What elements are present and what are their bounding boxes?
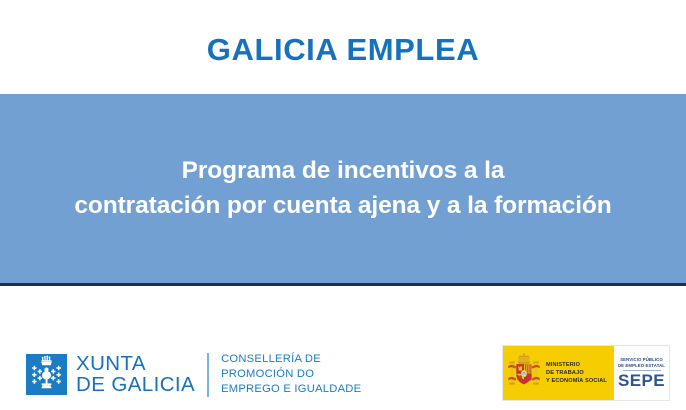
ministerio-wordmark: MINISTERIO DE TRABAJO Y ECONOMÍA SOCIAL [546, 361, 607, 385]
sepe-logo: SERVICIO PÚBLICO DE EMPLEO ESTATAL SEPE [614, 346, 669, 400]
sepe-subtitle-line-1: SERVICIO PÚBLICO [618, 357, 665, 363]
sepe-subtitle-line-2: DE EMPLEO ESTATAL [618, 363, 665, 369]
conselleria-line-2: PROMOCIÓN DO [221, 367, 361, 382]
xunta-wordmark: XUNTA DE GALICIA [76, 354, 195, 396]
ministerio-line-1: MINISTERIO [546, 361, 607, 369]
xunta-emblem-icon [26, 354, 67, 395]
spain-coat-of-arms-icon [507, 353, 541, 393]
government-logos: MINISTERIO DE TRABAJO Y ECONOMÍA SOCIAL … [502, 345, 670, 401]
ministerio-de-trabajo-logo: MINISTERIO DE TRABAJO Y ECONOMÍA SOCIAL [503, 346, 614, 400]
conselleria-line-3: EMPREGO E IGUALDADE [221, 382, 361, 397]
ministerio-line-2: DE TRABAJO [546, 369, 607, 377]
slide-root: GALICIA EMPLEA Programa de incentivos a … [0, 0, 686, 410]
xunta-wordmark-line-2: DE GALICIA [76, 375, 195, 396]
ministerio-line-3: Y ECONOMÍA SOCIAL [546, 377, 607, 385]
conselleria-line-1: CONSELLERÍA DE [221, 352, 361, 367]
program-banner-text: Programa de incentivos a la contratación… [23, 154, 663, 224]
page-title: GALICIA EMPLEA [207, 30, 479, 65]
title-area: GALICIA EMPLEA [0, 0, 686, 94]
program-banner: Programa de incentivos a la contratación… [0, 94, 686, 283]
sepe-acronym: SEPE [618, 372, 665, 389]
sepe-subtitle: SERVICIO PÚBLICO DE EMPLEO ESTATAL [618, 357, 665, 369]
xunta-de-galicia-logo: XUNTA DE GALICIA CONSELLERÍA DE PROMOCIÓ… [26, 352, 361, 398]
program-line-2: contratación por cuenta ajena y a la for… [23, 189, 663, 224]
logo-divider [207, 353, 209, 397]
program-line-1: Programa de incentivos a la [23, 154, 663, 189]
conselleria-wordmark: CONSELLERÍA DE PROMOCIÓN DO EMPREGO E IG… [221, 352, 361, 398]
xunta-wordmark-line-1: XUNTA [76, 354, 195, 375]
